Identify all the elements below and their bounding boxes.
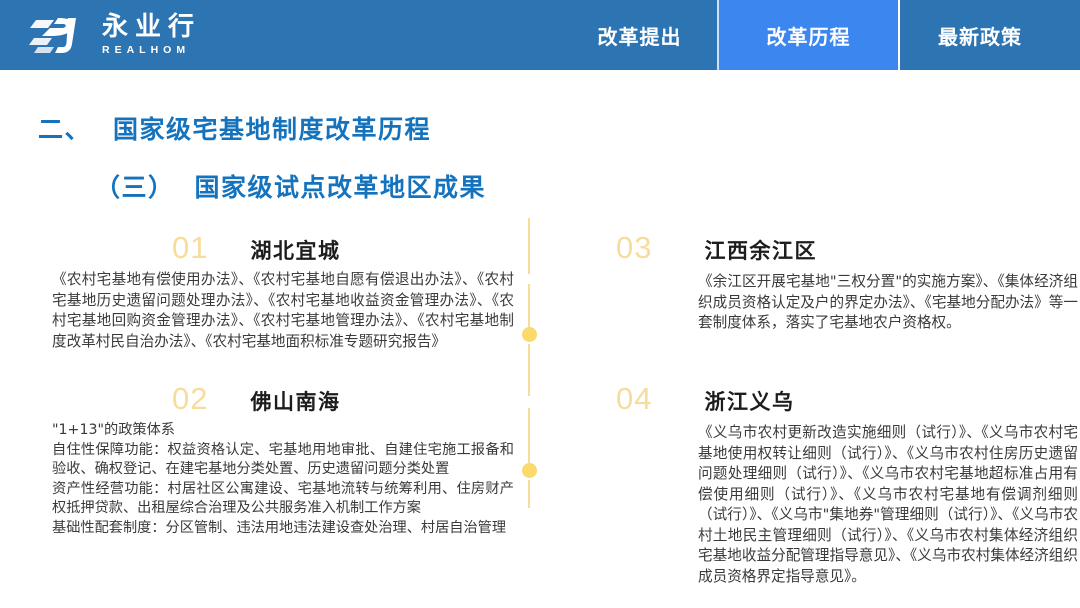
block-region-name: 江西余江区 [704, 241, 817, 262]
block-region-name: 浙江义乌 [704, 392, 794, 413]
block-number: 03 [616, 232, 652, 263]
block-body-text: 《余江区开展宅基地"三权分置"的实施方案》、《集体经济组织成员资格认定及户的界定… [608, 272, 1078, 334]
block-number: 04 [616, 383, 652, 414]
block-heading: 01 湖北宜城 [44, 232, 514, 266]
block-body-text: 《义乌市农村更新改造实施细则（试行）》、《义乌市农村宅基地使用权转让细则（试行）… [608, 423, 1078, 587]
section-title-text: 国家级宅基地制度改革历程 [113, 115, 431, 144]
yh-monogram-icon [28, 14, 92, 56]
region-block-zhejiang-yiwu: 04 浙江义乌 《义乌市农村更新改造实施细则（试行）》、《义乌市农村宅基地使用权… [608, 383, 1078, 587]
block-number: 02 [172, 383, 208, 414]
logo-chinese-name: 永业行 [102, 14, 201, 40]
subsection-heading: （三）国家级试点改革地区成果 [95, 168, 486, 204]
block-region-name: 湖北宜城 [250, 241, 340, 262]
timeline-segment [528, 284, 530, 328]
timeline-segment [528, 408, 530, 463]
block-body-text: "1+13"的政策体系 自住性保障功能：权益资格认定、宅基地用地审批、自建住宅施… [44, 421, 514, 539]
timeline-dot [522, 463, 537, 478]
top-header-bar: 永业行 REALHOM 改革提出 改革历程 最新政策 [0, 0, 1080, 70]
block-region-name: 佛山南海 [250, 392, 340, 413]
region-block-jiangxi-yujiang: 03 江西余江区 《余江区开展宅基地"三权分置"的实施方案》、《集体经济组织成员… [608, 232, 1078, 334]
block-heading: 03 江西余江区 [608, 232, 1078, 266]
timeline-segment [528, 344, 530, 396]
block-heading: 02 佛山南海 [44, 383, 514, 417]
block-body-text: 《农村宅基地有偿使用办法》、《农村宅基地自愿有偿退出办法》、《农村宅基地历史遗留… [44, 270, 514, 352]
tab-reform-history[interactable]: 改革历程 [717, 0, 900, 70]
section-number: 二、 [38, 115, 91, 144]
brand-logo[interactable]: 永业行 REALHOM [0, 0, 201, 70]
block-heading: 04 浙江义乌 [608, 383, 1078, 417]
logo-english-name: REALHOM [102, 45, 201, 56]
subsection-number: （三） [95, 173, 175, 202]
timeline-segment [528, 480, 530, 508]
subsection-title-text: 国家级试点改革地区成果 [195, 173, 487, 202]
timeline-dot [522, 327, 537, 342]
header-nav-tabs: 改革提出 改革历程 最新政策 [562, 0, 1080, 70]
region-block-hubei-yicheng: 01 湖北宜城 《农村宅基地有偿使用办法》、《农村宅基地自愿有偿退出办法》、《农… [44, 232, 514, 352]
region-block-foshan-nanhai: 02 佛山南海 "1+13"的政策体系 自住性保障功能：权益资格认定、宅基地用地… [44, 383, 514, 539]
tab-reform-proposal[interactable]: 改革提出 [562, 0, 717, 70]
block-number: 01 [172, 232, 208, 263]
tab-latest-policy[interactable]: 最新政策 [900, 0, 1080, 70]
section-heading: 二、国家级宅基地制度改革历程 [38, 110, 431, 146]
center-timeline-divider [528, 218, 530, 508]
timeline-segment [528, 218, 530, 274]
